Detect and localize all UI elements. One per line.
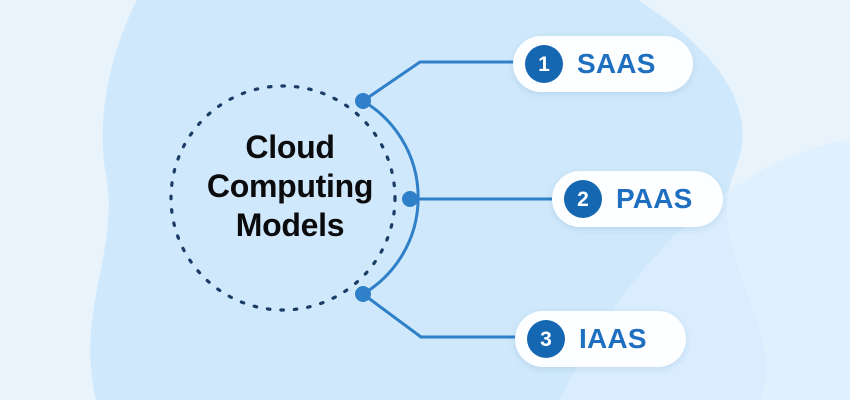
item-number-badge-paas: 2 (564, 180, 602, 218)
node-top[interactable] (355, 93, 371, 109)
item-pill-saas[interactable]: 1 SAAS (513, 36, 693, 92)
center-title-line-1: Cloud (175, 128, 405, 167)
center-title: Cloud Computing Models (175, 128, 405, 245)
item-pill-iaas[interactable]: 3 IAAS (515, 311, 686, 367)
item-pill-paas[interactable]: 2 PAAS (552, 171, 723, 227)
item-number-badge-saas: 1 (525, 45, 563, 83)
item-label-saas: SAAS (577, 50, 656, 78)
connector-saas (363, 62, 520, 101)
node-bottom[interactable] (355, 286, 371, 302)
item-number-badge-iaas: 3 (527, 320, 565, 358)
center-title-line-2: Computing (175, 167, 405, 206)
center-title-line-3: Models (175, 206, 405, 245)
connector-iaas (363, 294, 522, 337)
diagram-canvas: Cloud Computing Models 1 SAAS 2 PAAS 3 I… (0, 0, 850, 400)
item-label-iaas: IAAS (579, 325, 647, 353)
item-label-paas: PAAS (616, 185, 693, 213)
